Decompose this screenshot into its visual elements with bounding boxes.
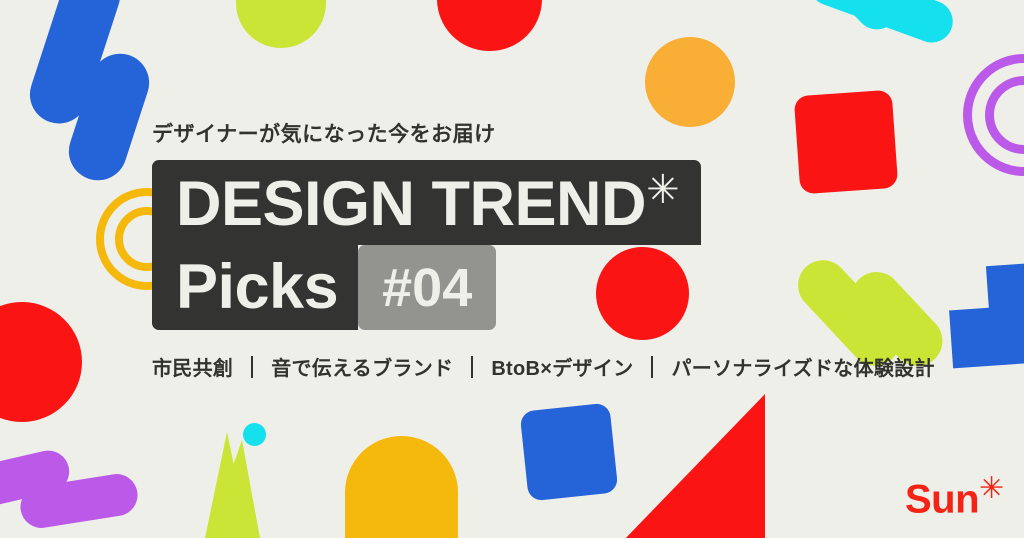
- title-line-2-row: Picks #04: [152, 245, 496, 330]
- title-sub-text: Picks: [176, 256, 338, 319]
- brand-asterisk-icon: ✳: [979, 472, 1004, 505]
- title-line-2: Picks: [152, 245, 358, 330]
- keyword-item: 音で伝えるブランド: [271, 352, 453, 381]
- keyword-divider: [471, 356, 473, 378]
- issue-number-label: #04: [382, 261, 472, 315]
- issue-number-badge: #04: [358, 245, 496, 330]
- poster-canvas: デザイナーが気になった今をお届け DESIGN TREND✳ Picks #04…: [0, 0, 1024, 538]
- title-line-1: DESIGN TREND✳: [152, 160, 701, 245]
- keyword-divider: [251, 356, 253, 378]
- keyword-item: BtoB×デザイン: [491, 352, 633, 381]
- asterisk-icon: ✳: [646, 168, 679, 212]
- keyword-item: 市民共創: [152, 352, 233, 381]
- tagline: デザイナーが気になった今をお届け: [152, 118, 496, 148]
- title-main-text: DESIGN TREND: [176, 169, 646, 239]
- keyword-divider: [651, 356, 653, 378]
- brand-logo: Sun✳: [905, 474, 1004, 519]
- keyword-list: 市民共創 音で伝えるブランド BtoB×デザイン パーソナライズドな体験設計: [152, 352, 935, 381]
- keyword-item: パーソナライズドな体験設計: [671, 352, 934, 381]
- brand-name-text: Sun: [905, 477, 979, 521]
